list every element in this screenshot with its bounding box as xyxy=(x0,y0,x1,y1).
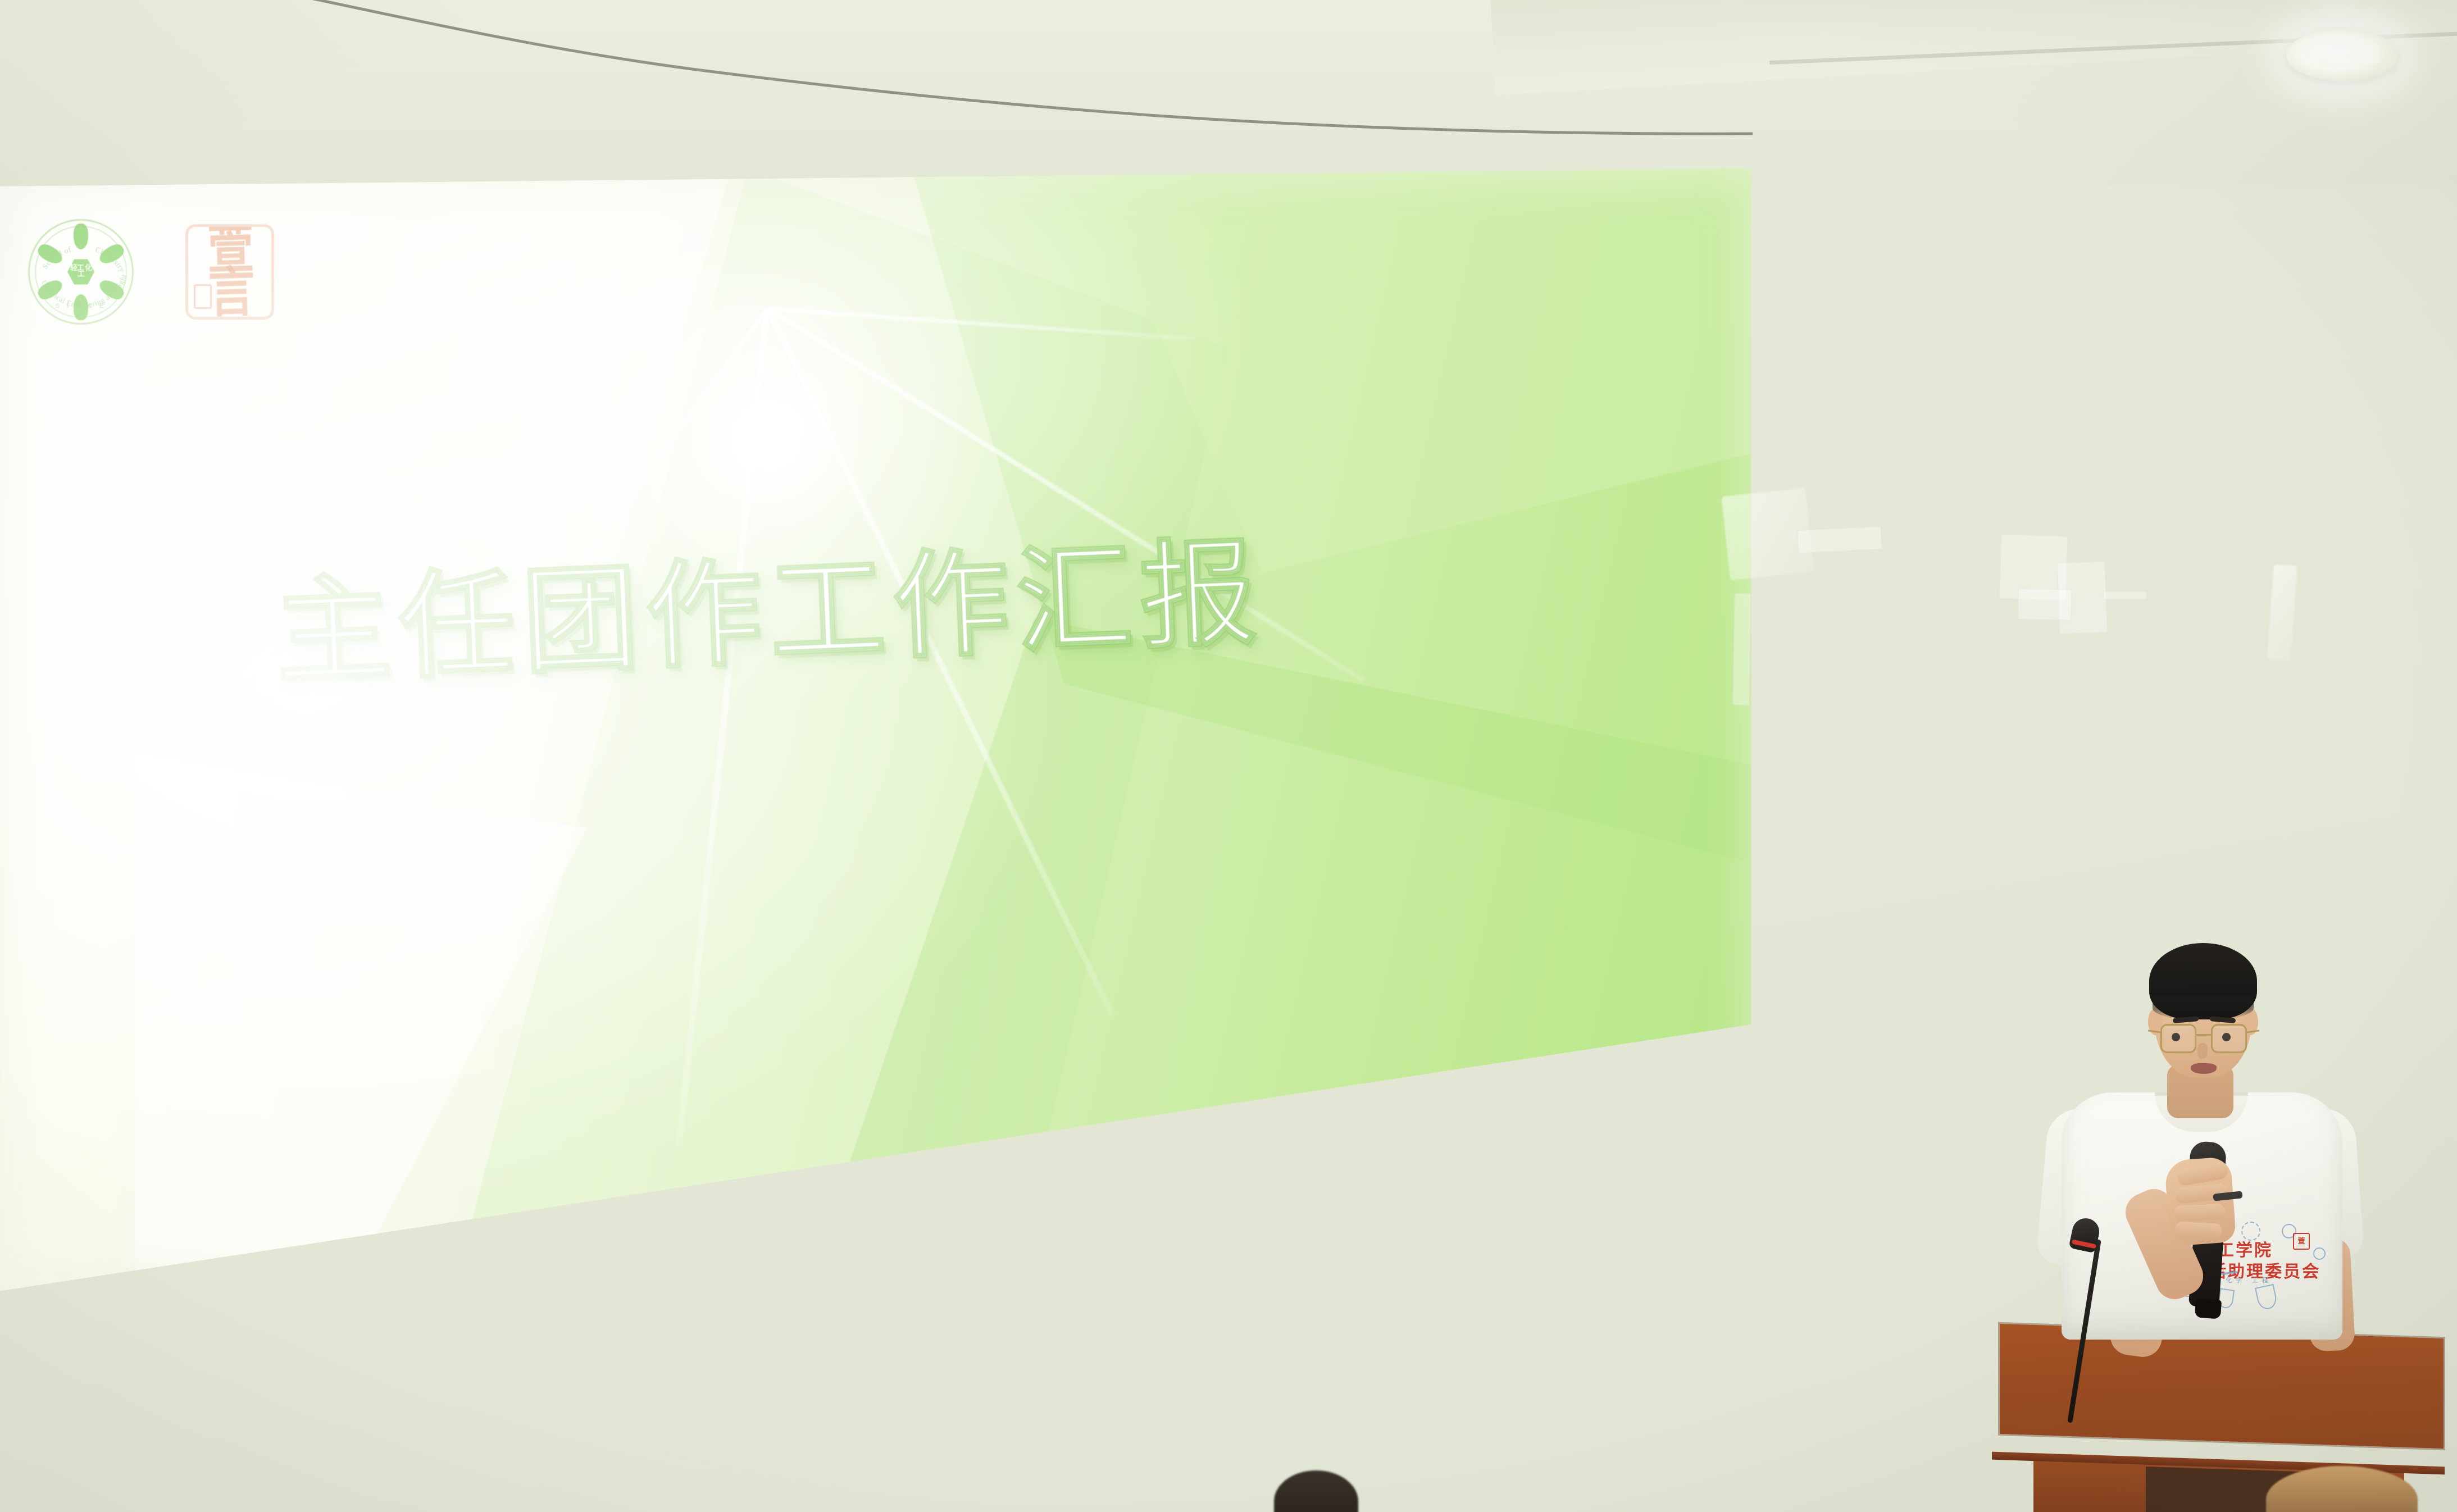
nose xyxy=(2197,1043,2208,1059)
handheld-microphone-tip xyxy=(2195,1298,2222,1319)
tape-mark xyxy=(2103,591,2147,600)
speaker-figure: 化工学院 萱 生活助理委员会 化 学 · 工 程 xyxy=(2045,924,2359,1340)
seal-flower: 轻工 化工 xyxy=(49,240,112,303)
ceiling-downlight-icon xyxy=(2286,29,2399,81)
stamp-sub-box xyxy=(194,284,212,309)
glasses-lens-right xyxy=(2211,1024,2247,1053)
doodle-flask-icon xyxy=(2255,1284,2278,1311)
finger xyxy=(2174,1204,2226,1221)
seal-center-characters: 轻工 化工 xyxy=(67,258,94,277)
glasses-bridge xyxy=(2196,1034,2211,1036)
hair-fringe xyxy=(2153,996,2254,1021)
glasses-lens-left xyxy=(2160,1024,2196,1053)
seal-hex-center: 轻工 化工 xyxy=(67,258,94,285)
tape-mark xyxy=(1797,526,1882,554)
slide-logo-row: School of Chemistry Chemical Engineering… xyxy=(28,219,274,325)
school-seal-icon: School of Chemistry Chemical Engineering… xyxy=(28,219,134,325)
seal-since-text: S I N C E xyxy=(56,303,107,309)
mouth xyxy=(2191,1063,2217,1074)
stamp-characters: 萱 言 xyxy=(207,228,253,316)
presentation-photo-scene: School of Chemistry Chemical Engineering… xyxy=(0,0,2457,1512)
finger xyxy=(2174,1222,2222,1238)
red-stamp-icon: 萱 言 xyxy=(185,224,274,320)
tape-mark xyxy=(1732,593,1751,705)
shirt-stamp-icon: 萱 xyxy=(2293,1233,2310,1250)
shirt-subtext: 化 学 · 工 程 xyxy=(2226,1276,2269,1285)
tape-mark xyxy=(2018,588,2072,621)
